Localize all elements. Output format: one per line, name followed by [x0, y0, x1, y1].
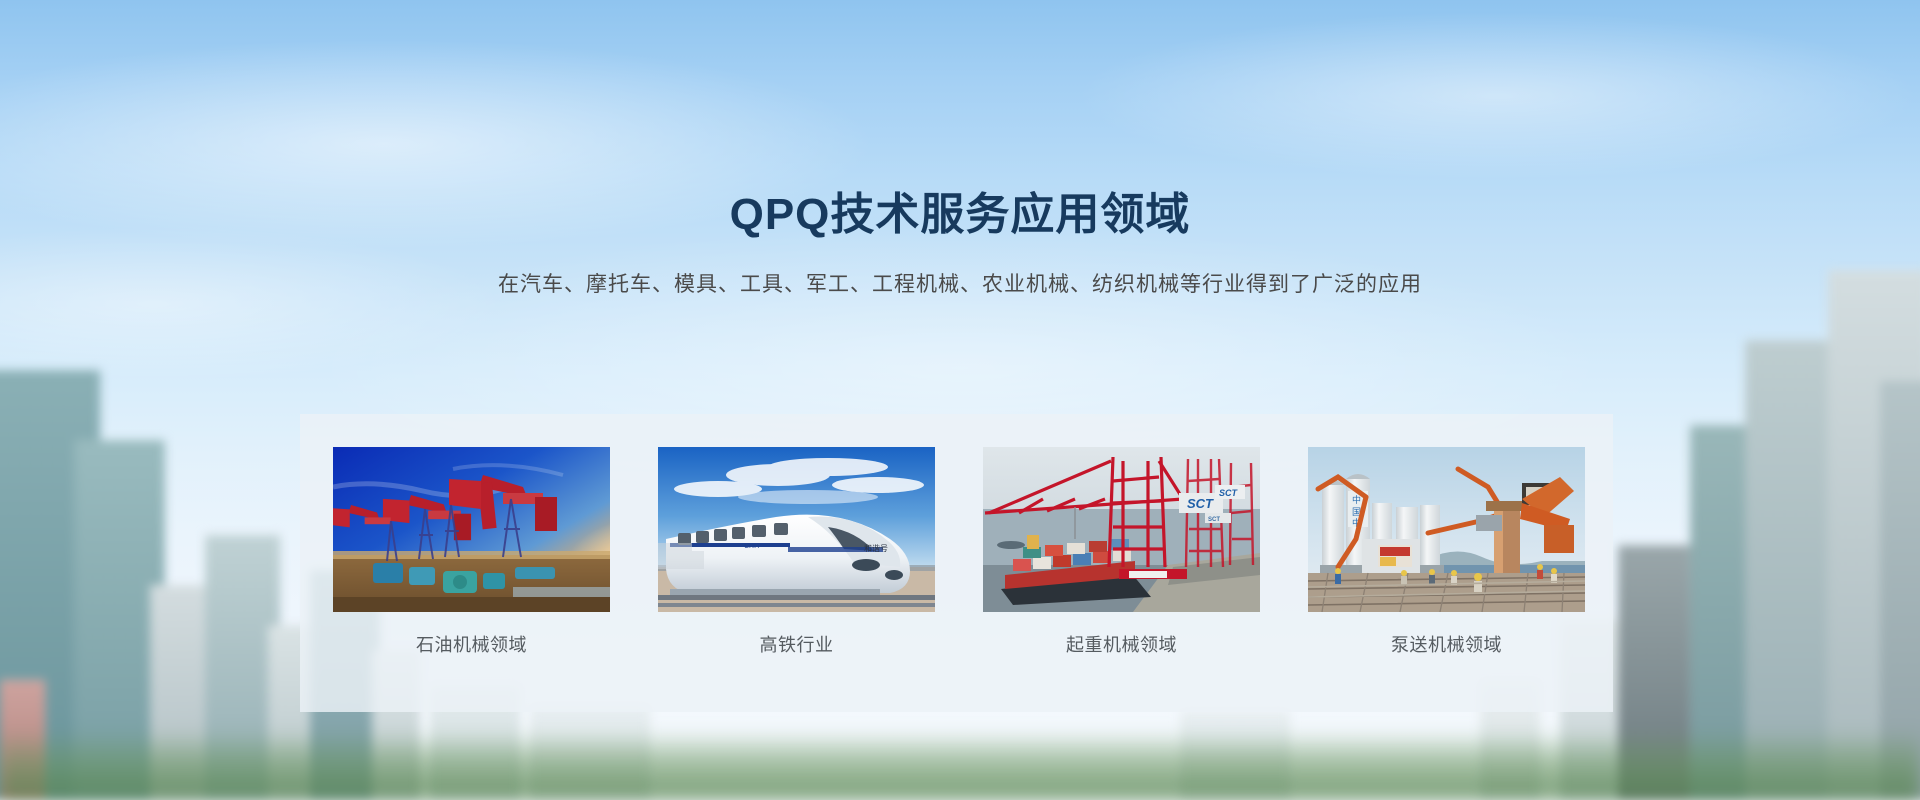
- card-caption: 石油机械领域: [333, 631, 610, 657]
- high-speed-train-photo[interactable]: CRH 和谐号: [658, 447, 935, 612]
- hero-content: QPQ技术服务应用领域 在汽车、摩托车、模具、工具、军工、工程机械、农业机械、纺…: [0, 0, 1920, 800]
- port-gantry-crane-photo[interactable]: SCT SCT SCT: [983, 447, 1260, 612]
- application-card-oil[interactable]: 石油机械领域: [333, 447, 610, 657]
- page-subtitle: 在汽车、摩托车、模具、工具、军工、工程机械、农业机械、纺织机械等行业得到了广泛的…: [0, 268, 1920, 298]
- page-title: QPQ技术服务应用领域: [0, 190, 1920, 241]
- svg-text:中: 中: [1352, 494, 1361, 505]
- card-caption: 起重机械领域: [983, 631, 1260, 657]
- application-card-rail[interactable]: CRH 和谐号 高铁行业: [658, 447, 935, 657]
- card-caption: 泵送机械领域: [1308, 631, 1585, 657]
- card-caption: 高铁行业: [658, 631, 935, 657]
- application-card-pump[interactable]: 中 国 中: [1308, 447, 1585, 657]
- application-card-crane[interactable]: SCT SCT SCT 起重机械领域: [983, 447, 1260, 657]
- application-cards-panel: 石油机械领域: [300, 414, 1613, 712]
- concrete-pump-photo[interactable]: 中 国 中: [1308, 447, 1585, 612]
- svg-text:SCT: SCT: [1219, 488, 1239, 498]
- svg-text:SCT: SCT: [1208, 517, 1220, 523]
- application-cards-row: 石油机械领域: [333, 447, 1585, 657]
- svg-text:和谐号: 和谐号: [864, 543, 888, 553]
- oil-pumpjack-photo[interactable]: [333, 447, 610, 612]
- svg-text:CRH: CRH: [744, 543, 759, 550]
- svg-text:SCT: SCT: [1187, 496, 1214, 511]
